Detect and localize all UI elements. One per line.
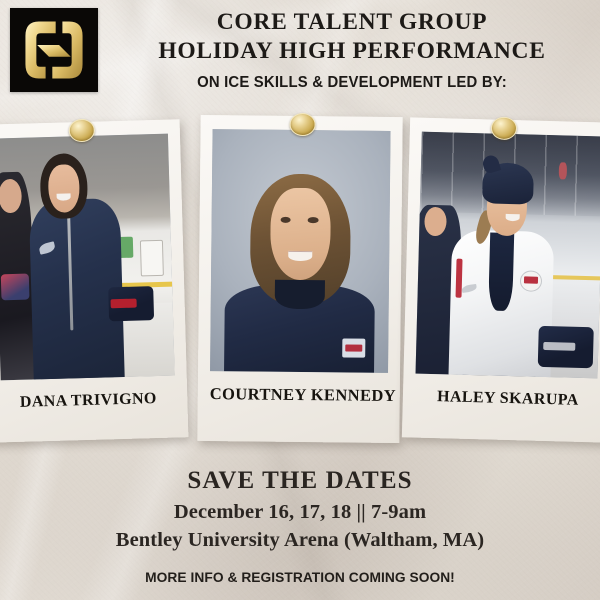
coach-photo-courtney-kennedy (210, 129, 391, 373)
flyer-canvas: CORE TALENT GROUP HOLIDAY HIGH PERFORMAN… (0, 0, 600, 600)
header-text-block: CORE TALENT GROUP HOLIDAY HIGH PERFORMAN… (110, 8, 594, 96)
header-line-1: CORE TALENT GROUP (110, 8, 594, 37)
coach-name-label: HALEY SKARUPA (414, 374, 597, 425)
coach-polaroid-haley-skarupa[interactable]: HALEY SKARUPA (402, 117, 600, 442)
monogram-icon (10, 8, 98, 92)
header-line-3: ON ICE SKILLS & DEVELOPMENT LED BY: (120, 70, 585, 96)
save-the-dates-heading: SAVE THE DATES (0, 458, 600, 498)
core-talent-group-logo (10, 8, 98, 92)
coach-name-label: DANA TRIVIGNO (1, 376, 176, 427)
coach-polaroid-dana-trivigno[interactable]: DANA TRIVIGNO (0, 119, 188, 442)
header-line-2: HOLIDAY HIGH PERFORMANCE (110, 37, 594, 66)
coach-polaroid-courtney-kennedy[interactable]: COURTNEY KENNEDY (197, 115, 402, 443)
brass-tack-icon (289, 113, 315, 136)
coach-polaroid-row: DANA TRIVIGNO COURTNEY KENNEDY (0, 112, 600, 460)
event-venue-line: Bentley University Arena (Waltham, MA) (0, 526, 600, 554)
footer: SAVE THE DATES December 16, 17, 18 || 7-… (0, 458, 600, 600)
event-dates-line: December 16, 17, 18 || 7-9am (0, 498, 600, 526)
header: CORE TALENT GROUP HOLIDAY HIGH PERFORMAN… (0, 0, 600, 112)
coach-photo-dana-trivigno (0, 134, 175, 381)
more-info-line: MORE INFO & REGISTRATION COMING SOON! (9, 568, 591, 588)
coach-name-label: COURTNEY KENNEDY (210, 371, 388, 419)
coach-photo-haley-skarupa (416, 132, 600, 379)
